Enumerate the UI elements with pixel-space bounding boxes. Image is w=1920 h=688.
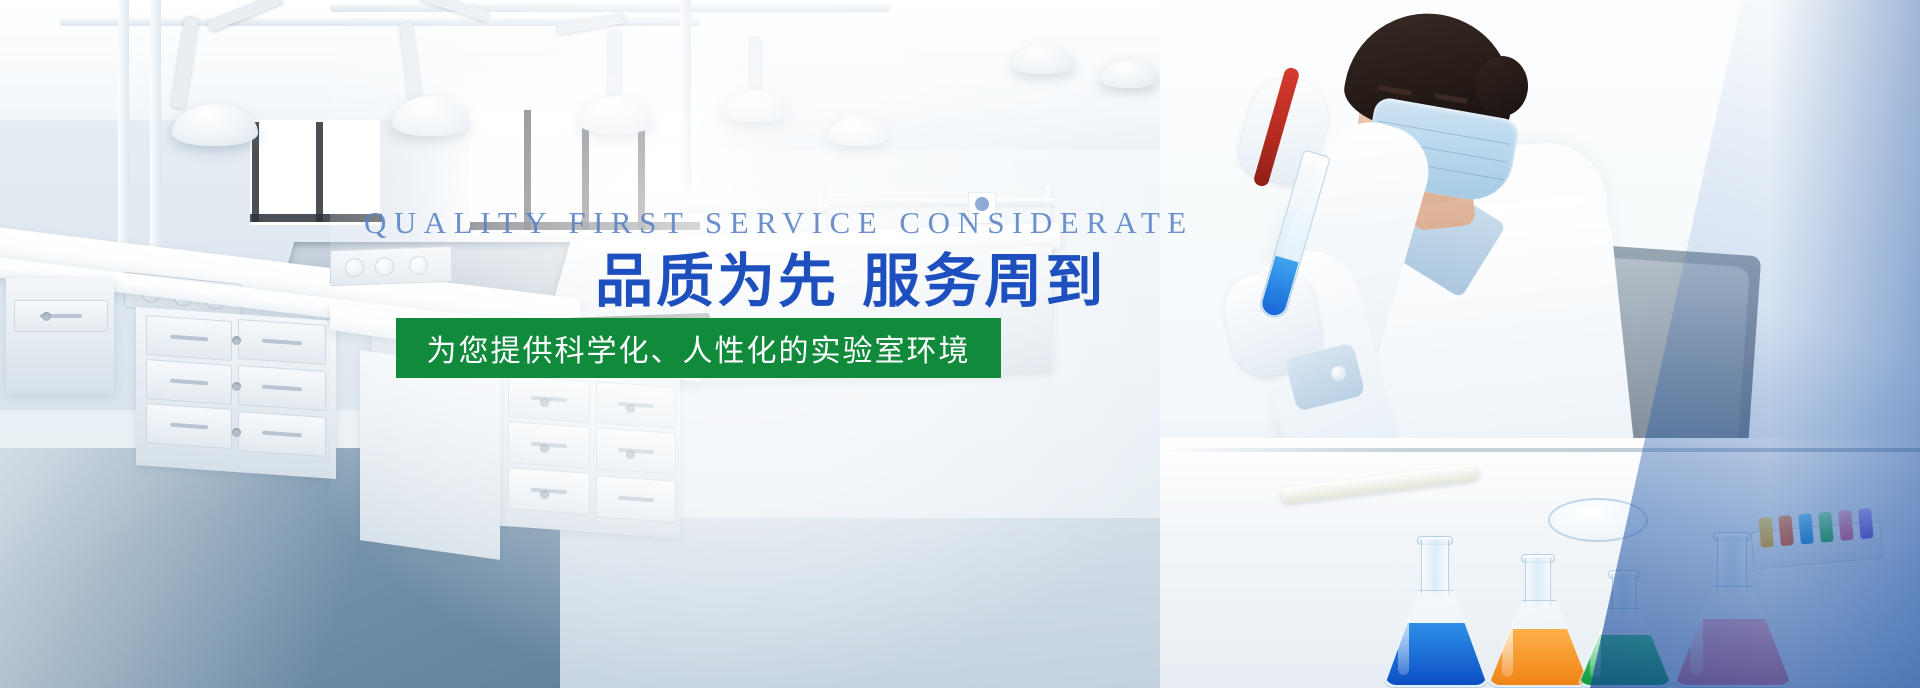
hero-banner: QUALITY FIRST SERVICE CONSIDERATE 品质为先 服… bbox=[0, 0, 1920, 688]
green-subtitle-text: 为您提供科学化、人性化的实验室环境 bbox=[427, 326, 971, 370]
english-tagline: QUALITY FIRST SERVICE CONSIDERATE bbox=[364, 205, 1194, 241]
text-overlay: QUALITY FIRST SERVICE CONSIDERATE 品质为先 服… bbox=[0, 0, 1920, 688]
chinese-headline: 品质为先 服务周到 bbox=[595, 250, 1106, 314]
green-subtitle-bar: 为您提供科学化、人性化的实验室环境 bbox=[396, 318, 1001, 378]
